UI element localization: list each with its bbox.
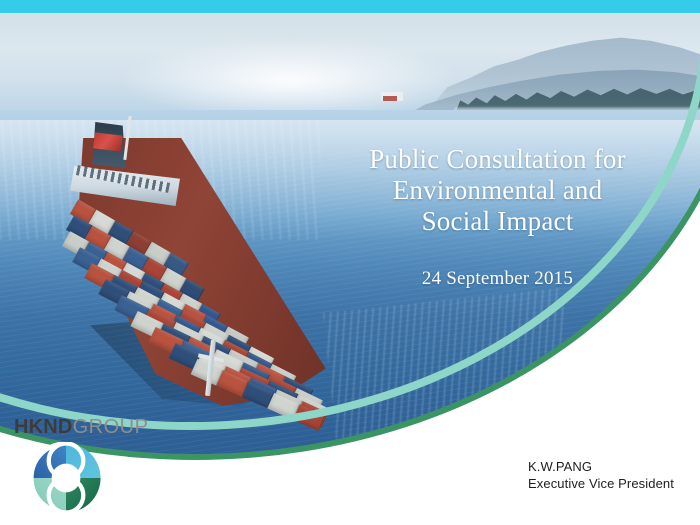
slide-date: 24 September 2015 — [300, 268, 695, 290]
logo-wordmark: HKNDGROUP — [14, 416, 148, 438]
page-title-line-2: Environmental and — [300, 175, 695, 206]
presentation-slide: Public Consultation for Environmental an… — [0, 0, 700, 525]
distant-vessel — [381, 92, 403, 101]
hknd-swirl-icon — [30, 442, 102, 514]
hknd-group-logo: HKNDGROUP — [14, 416, 148, 514]
presenter-name: K.W.PANG — [528, 458, 674, 475]
top-cyan-band — [0, 0, 700, 13]
page-title-line-1: Public Consultation for — [300, 144, 695, 175]
title-block: Public Consultation for Environmental an… — [300, 144, 695, 290]
presenter-role: Executive Vice President — [528, 475, 674, 492]
page-title-line-3: Social Impact — [300, 206, 695, 237]
logo-text-hknd: HKND — [14, 416, 73, 438]
presenter-block: K.W.PANG Executive Vice President — [528, 458, 674, 492]
funnel-livery-mark — [93, 132, 123, 151]
logo-text-group: GROUP — [73, 416, 149, 438]
